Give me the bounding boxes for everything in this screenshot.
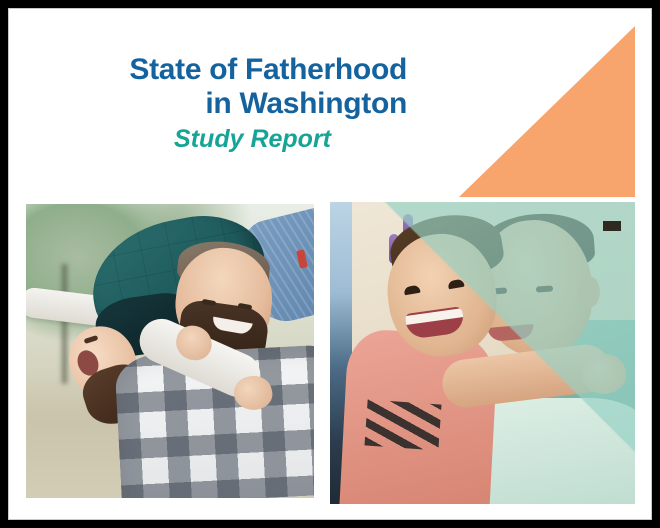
page-subtitle: Study Report [9,125,331,154]
orange-corner-triangle-icon [459,26,635,197]
photo-right-father-eye-right [536,285,553,292]
page-title-line-1: State of Fatherhood [9,53,407,87]
photo-father-carrying-child [26,204,314,498]
page-title-line-2: in Washington [9,87,407,121]
cover-title-block: State of Fatherhood in Washington Study … [9,53,407,154]
photo-right-boy-shirt-print [364,399,441,450]
report-cover: State of Fatherhood in Washington Study … [0,0,660,528]
photo-right-father-ear [578,276,600,308]
photo-left-tree-trunk [60,264,69,384]
photo-right-dark-marker [603,221,621,231]
cover-page: State of Fatherhood in Washington Study … [8,8,652,520]
photo-boy-hugging-father [330,202,635,504]
